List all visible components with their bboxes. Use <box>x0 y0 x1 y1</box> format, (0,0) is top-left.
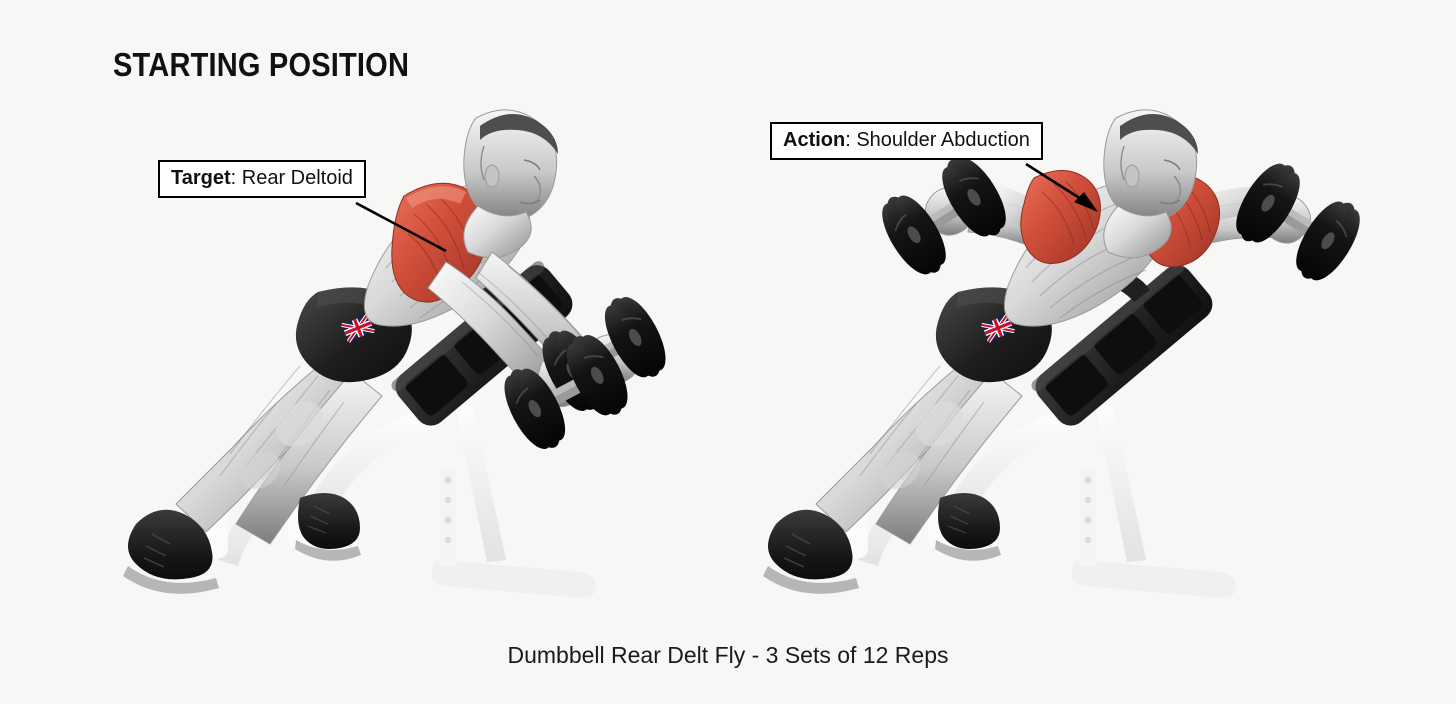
callout-action-label: Action <box>783 129 845 151</box>
panel-starting-position: STARTING POSITION <box>0 0 728 704</box>
callout-action-separator: : <box>845 129 856 151</box>
callout-target-muscle: Target: Rear Deltoid <box>158 160 366 198</box>
panel-finishing-position: FINISHING POSITION <box>728 0 1456 704</box>
panel-title-starting: STARTING POSITION <box>113 46 409 84</box>
callout-action-value: Shoulder Abduction <box>856 129 1029 151</box>
exercise-caption: Dumbbell Rear Delt Fly - 3 Sets of 12 Re… <box>0 642 1456 669</box>
callout-target-label: Target <box>171 167 231 189</box>
callout-action: Action: Shoulder Abduction <box>770 122 1043 160</box>
exercise-illustration: STARTING POSITION FINISHING POSITION Tar… <box>0 0 1456 704</box>
callout-target-value: Rear Deltoid <box>242 167 353 189</box>
callout-target-separator: : <box>231 167 242 189</box>
